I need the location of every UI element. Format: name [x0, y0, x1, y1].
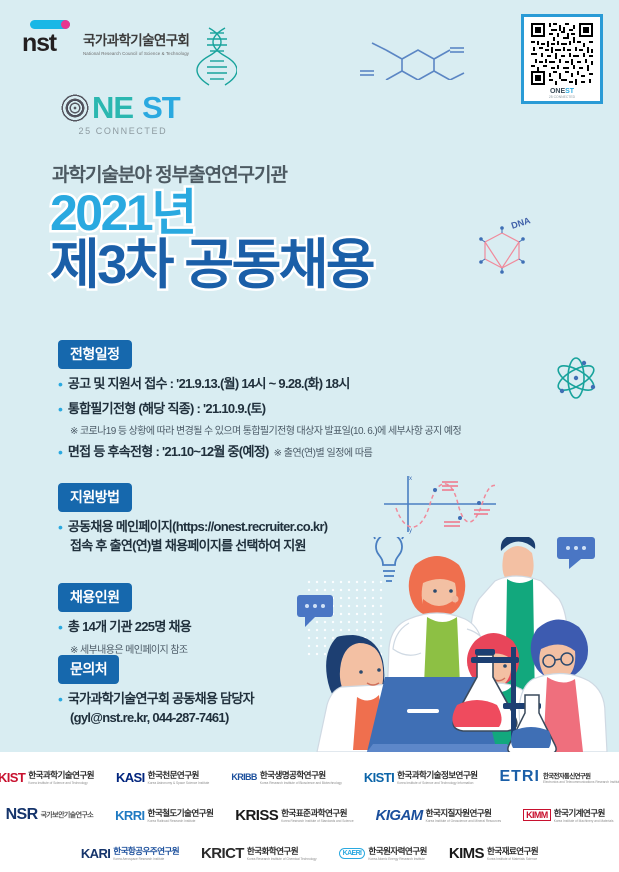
logo-mark: KIGAM [376, 807, 423, 824]
qr-caption: ONEST [550, 88, 574, 95]
logo-kr: 한국천문연구원 [148, 769, 210, 781]
bullet-icon: • [58, 619, 63, 637]
logo-en: Korea Institute of Machinery and Materia… [554, 819, 614, 823]
logo-mark: KRISS [235, 807, 278, 824]
logo-kr: 한국전자통신연구원 [543, 771, 619, 780]
nst-korean-name: 국가과학기술연구회 [83, 29, 189, 49]
logo-mark: KAERI [339, 848, 366, 859]
nst-wordmark: nst [22, 20, 76, 56]
logo-en: Korea Research Institute of Bioscience a… [260, 781, 342, 785]
dna-label: DNA [510, 215, 532, 231]
logo-kribb: KRIBB 한국생명공학연구원Korea Research Institute … [231, 769, 342, 785]
logo-en: Electronics and Telecommunications Resea… [543, 780, 619, 784]
logo-kasi: KASI 한국천문연구원Korea Astronomy & Space Scie… [116, 769, 209, 785]
bullet-icon: • [58, 444, 63, 462]
logo-en: Korea Institute of Materials Science [487, 857, 538, 861]
logo-mark: NSR [6, 806, 38, 824]
logo-mark: ETRI [499, 768, 539, 786]
logo-nsr: NSR 국가보안기술연구소 [6, 806, 94, 824]
footer-logos: KIST 한국과학기술연구원Korea Institute of Science… [0, 752, 619, 872]
schedule-text-1: 공고 및 지원서 접수 : '21.9.13.(월) 14시 ~ 9.28.(화… [68, 376, 350, 393]
bullet-icon: • [58, 401, 63, 419]
logo-kr: 한국재료연구원 [487, 845, 538, 857]
dna-helix-icon [195, 25, 237, 90]
logo-kr: 한국원자력연구원 [368, 845, 426, 857]
logo-mark: KARI [81, 846, 110, 861]
qr-caption-one: ONE [550, 88, 565, 95]
speech-bubble-right [557, 537, 595, 569]
logo-mark: KRRI [115, 808, 144, 823]
section-heading-contact: 문의처 [58, 655, 119, 684]
nst-logo: nst 국가과학기술연구회 National Research Council … [22, 20, 189, 56]
logo-kr: 한국기계연구원 [554, 807, 614, 819]
qr-code-icon[interactable] [529, 21, 595, 87]
section-contact: 문의처 • 국가과학기술연구회 공동채용 담당자 (gyl@nst.re.kr,… [58, 655, 254, 727]
logo-kr: 한국생명공학연구원 [260, 769, 342, 781]
qr-code-box[interactable]: ONEST 25 CONNECTED [521, 14, 603, 104]
contact-owner-text: 국가과학기술연구회 공동채용 담당자 [68, 691, 254, 708]
logo-kr: 한국철도기술연구원 [148, 807, 214, 819]
logo-kr: 국가보안기술연구소 [41, 810, 94, 820]
speech-bubble-left [297, 595, 333, 627]
nst-english-name: National Research Council of Science & T… [83, 51, 189, 56]
section-heading-schedule: 전형일정 [58, 340, 132, 369]
logo-kr: 한국과학기술정보연구원 [397, 769, 477, 781]
bullet-icon: • [58, 519, 63, 537]
headcount-note: ※ 세부내용은 메인페이지 참조 [70, 641, 191, 656]
logo-kr: 한국화학연구원 [247, 845, 317, 857]
schedule-text-3: 면접 등 후속전형 : '21.10~12월 중(예정) [68, 444, 269, 461]
logo-mark: KIST [0, 770, 25, 785]
section-apply-method: 지원방법 • 공동채용 메인페이지(https://onest.recruite… [58, 483, 327, 555]
logo-krri: KRRI 한국철도기술연구원Korea Railroad Research In… [115, 807, 213, 823]
schedule-note: ※ 코로나19 등 상황에 따라 변경될 수 있으며 통합필기전형 대상자 발표… [70, 422, 461, 437]
nst-word: nst [22, 31, 76, 56]
onest-tagline: 25 CONNECTED [66, 126, 180, 136]
pre-title: 과학기술분야 정부출연연구기관 [52, 160, 287, 187]
logo-row-1: KIST 한국과학기술연구원Korea Institute of Science… [0, 758, 619, 796]
section-heading-apply: 지원방법 [58, 483, 132, 512]
logo-kr: 한국과학기술연구원 [28, 769, 94, 781]
section-schedule: 전형일정 • 공고 및 지원서 접수 : '21.9.13.(월) 14시 ~ … [58, 340, 461, 462]
schedule-text-2: 통합필기전형 (해당 직종) : '21.10.9.(토) [68, 401, 265, 418]
logo-kimm: KIMM 한국기계연구원Korea Institute of Machinery… [523, 807, 613, 823]
logo-en: Korea Institute of Science and Technolog… [28, 781, 94, 785]
logo-kr: 한국표준과학연구원 [281, 807, 353, 819]
logo-kist: KIST 한국과학기술연구원Korea Institute of Science… [0, 769, 94, 785]
logo-kims: KIMS 한국재료연구원Korea Institute of Materials… [449, 845, 538, 862]
title-line1: 2021년 [50, 188, 195, 238]
contact-detail-text[interactable]: (gyl@nst.re.kr, 044-287-7461) [70, 709, 254, 728]
logo-kriss: KRISS 한국표준과학연구원Korea Research Institute … [235, 807, 353, 824]
poster-root: DNA x y nst [0, 0, 619, 872]
molecular-cage-icon [477, 225, 527, 275]
bullet-icon: • [58, 376, 63, 394]
qr-caption-sub: 25 CONNECTED [549, 95, 575, 99]
logo-en: Korea Atomic Energy Research Institute [368, 857, 426, 861]
logo-en: Korea Research Institute of Chemical Tec… [247, 857, 317, 861]
logo-etri: ETRI 한국전자통신연구원Electronics and Telecommun… [499, 768, 619, 786]
schedule-item-3: • 면접 등 후속전형 : '21.10~12월 중(예정) ※ 출연(연)별 … [58, 444, 461, 462]
logo-kr: 한국지질자원연구원 [426, 807, 501, 819]
headcount-item-1: • 총 14개 기관 225명 채용 [58, 619, 191, 637]
onest-o-icon [60, 93, 90, 123]
logo-kaeri: KAERI 한국원자력연구원Korea Atomic Energy Resear… [339, 845, 427, 861]
schedule-item-1: • 공고 및 지원서 접수 : '21.9.13.(월) 14시 ~ 9.28.… [58, 376, 461, 394]
onest-st-text: ST [142, 92, 180, 123]
logo-mark: KRICT [201, 845, 244, 862]
logo-mark: KIMS [449, 845, 484, 862]
svg-text:y: y [409, 528, 412, 534]
logo-en: Korea Institute of Geoscience and Minera… [426, 819, 501, 823]
contact-item-1: • 국가과학기술연구회 공동채용 담당자 [58, 691, 254, 709]
logo-en: Korea Astronomy & Space Science Institut… [148, 781, 210, 785]
logo-mark: KIMM [523, 809, 551, 821]
lightbulb-icon [373, 537, 405, 581]
logo-mark: KRIBB [231, 772, 257, 782]
logo-en: Korea Aerospace Research Institute [113, 857, 179, 861]
onest-logo: NE ST 25 CONNECTED [60, 92, 180, 136]
logo-en: Korea Railroad Research Institute [148, 819, 214, 823]
logo-kigam: KIGAM 한국지질자원연구원Korea Institute of Geosci… [376, 807, 501, 824]
logo-krict: KRICT 한국화학연구원Korea Research Institute of… [201, 845, 317, 862]
logo-row-2: NSR 국가보안기술연구소 KRRI 한국철도기술연구원Korea Railro… [0, 796, 619, 834]
logo-en: Korea Institute of Science and Technolog… [397, 781, 477, 785]
qr-caption-st: ST [565, 88, 574, 95]
logo-kisti: KISTI 한국과학기술정보연구원Korea Institute of Scie… [364, 769, 478, 785]
atom-icon [553, 355, 599, 401]
logo-kr: 한국항공우주연구원 [113, 845, 179, 857]
title-line2: 제3차 공동채용 [50, 238, 373, 292]
section-heading-headcount: 채용인원 [58, 583, 132, 612]
scientists-illustration [289, 537, 619, 752]
schedule-inline-note: ※ 출연(연)별 일정에 따름 [274, 444, 373, 459]
logo-mark: KISTI [364, 770, 394, 785]
section-headcount: 채용인원 • 총 14개 기관 225명 채용 ※ 세부내용은 메인페이지 참조 [58, 583, 191, 656]
bullet-icon: • [58, 691, 63, 709]
svg-text:x: x [409, 476, 412, 482]
nst-pill-icon [30, 20, 70, 29]
headcount-text: 총 14개 기관 225명 채용 [68, 619, 191, 636]
logo-row-3: KARI 한국항공우주연구원Korea Aerospace Research I… [0, 834, 619, 872]
molecule-icon [358, 40, 478, 80]
logo-kari: KARI 한국항공우주연구원Korea Aerospace Research I… [81, 845, 179, 861]
logo-en: Korea Research Institute of Standards an… [281, 819, 353, 823]
nst-korean-block: 국가과학기술연구회 National Research Council of S… [83, 29, 189, 56]
schedule-item-2: • 통합필기전형 (해당 직종) : '21.10.9.(토) [58, 401, 461, 419]
apply-url-text[interactable]: 공동채용 메인페이지(https://onest.recruiter.co.kr… [68, 519, 328, 536]
onest-ne-text: NE [92, 92, 133, 123]
apply-item-1: • 공동채용 메인페이지(https://onest.recruiter.co.… [58, 519, 327, 537]
logo-mark: KASI [116, 770, 145, 785]
